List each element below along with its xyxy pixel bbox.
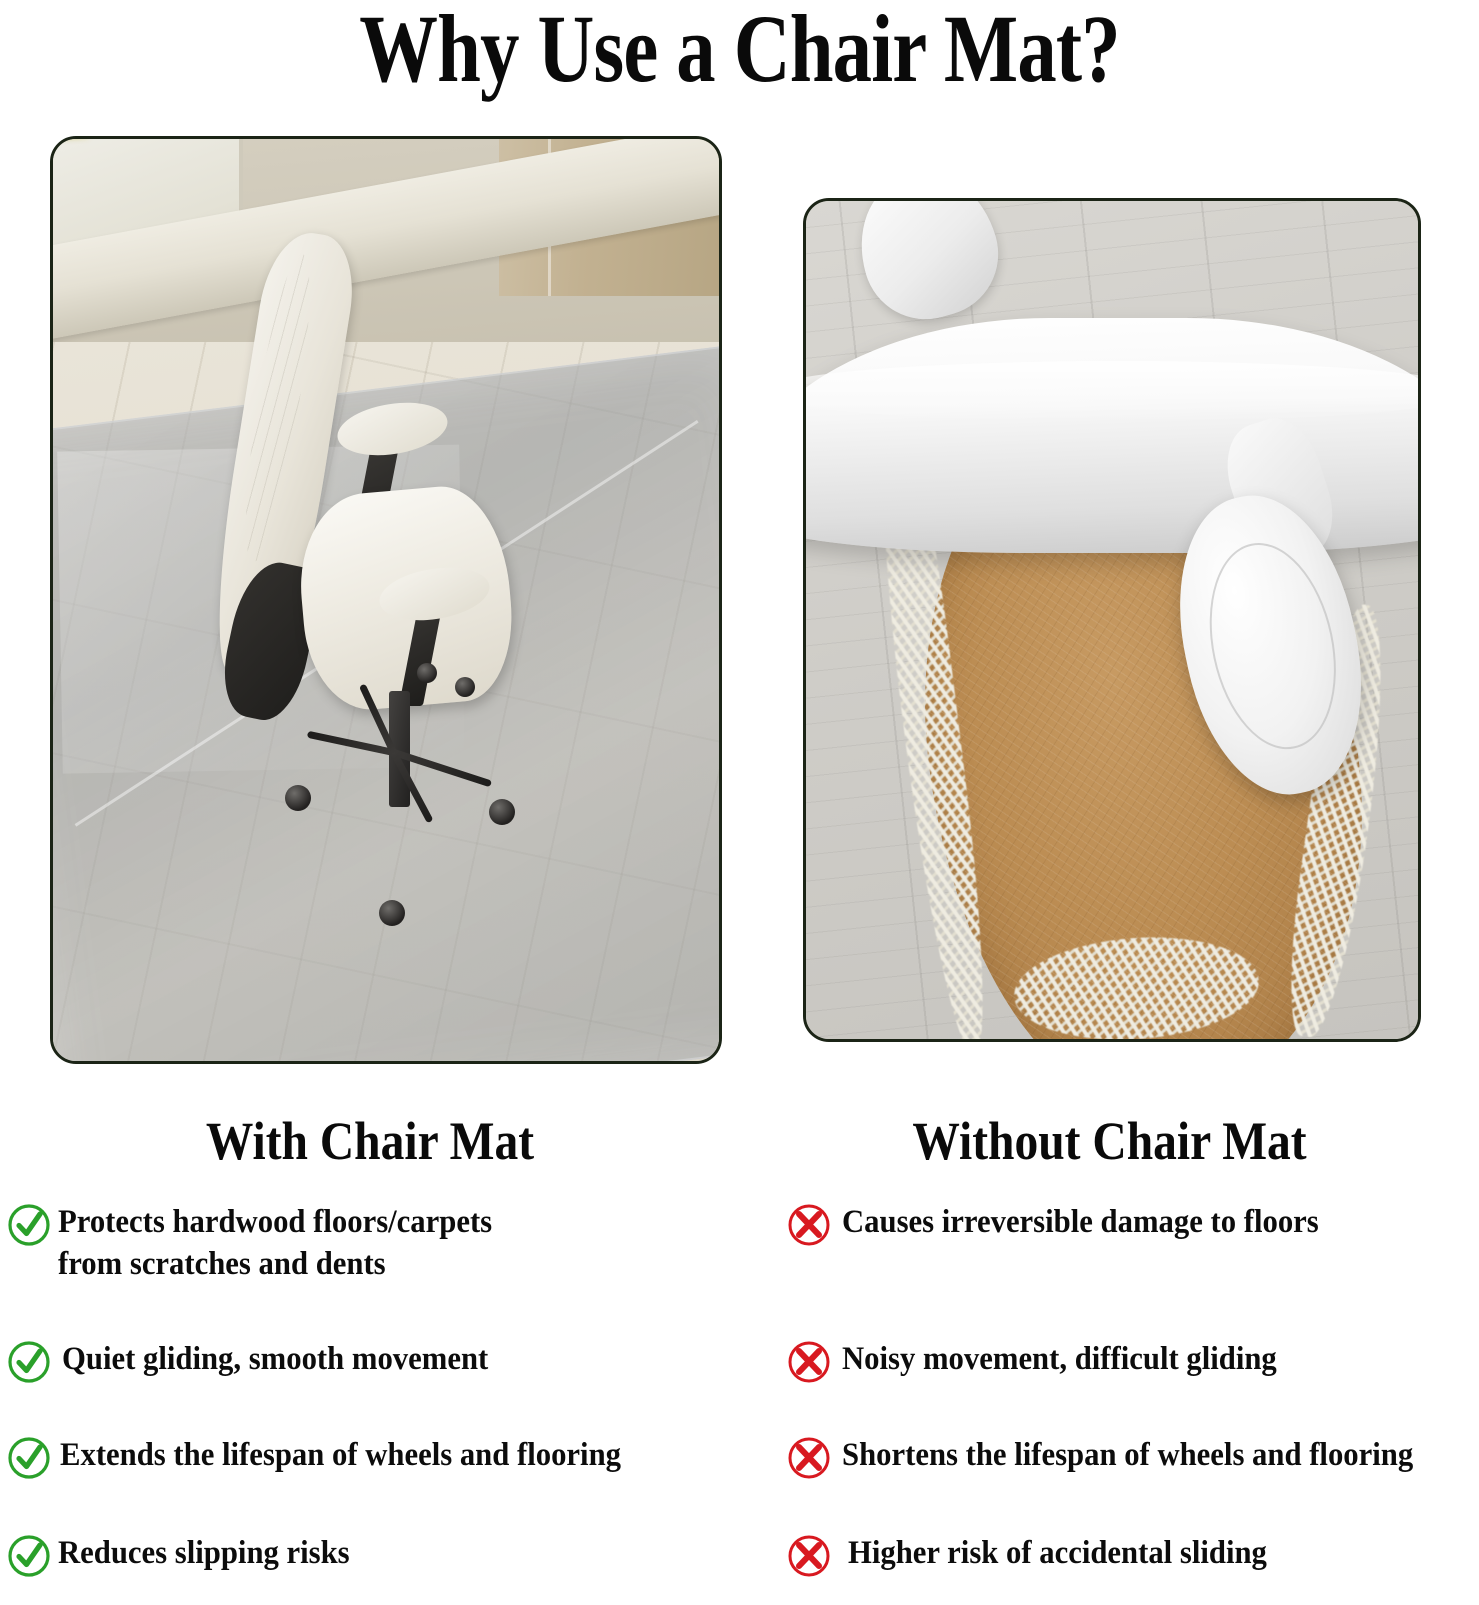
list-item: Quiet gliding, smooth movement [6, 1337, 751, 1401]
list-item: Extends the lifespan of wheels and floor… [6, 1433, 751, 1497]
list-item: Protects hardwood floors/carpets from sc… [6, 1200, 751, 1325]
green-check-circle-icon [6, 1339, 52, 1385]
photo-with-chair-mat-content [53, 139, 719, 1061]
drawbacks-list: Causes irreversible damage to floors Noi… [786, 1200, 1479, 1605]
red-x-circle-icon [786, 1533, 832, 1579]
office-chair [226, 231, 572, 950]
photo-without-chair-mat [803, 198, 1421, 1042]
list-item: Reduces slipping risks [6, 1531, 751, 1595]
list-item-label: Causes irreversible damage to floors [842, 1200, 1319, 1243]
list-item-label: Noisy movement, difficult gliding [842, 1337, 1277, 1380]
green-check-circle-icon [6, 1435, 52, 1481]
red-x-circle-icon [786, 1202, 832, 1248]
list-item: Causes irreversible damage to floors [786, 1200, 1479, 1325]
chair-caster [285, 785, 311, 811]
chair-caster [489, 799, 515, 825]
benefits-list: Protects hardwood floors/carpets from sc… [6, 1200, 751, 1605]
chair-caster [455, 677, 475, 697]
chair-caster [379, 900, 405, 926]
photo-with-chair-mat [50, 136, 722, 1064]
red-x-circle-icon [786, 1435, 832, 1481]
chair-armrest-far [334, 395, 451, 462]
list-item: Higher risk of accidental sliding [786, 1531, 1479, 1595]
list-item-label: Reduces slipping risks [58, 1531, 350, 1574]
heading-with-chair-mat: With Chair Mat [44, 1110, 695, 1172]
heading-without-chair-mat: Without Chair Mat [784, 1110, 1434, 1172]
red-x-circle-icon [786, 1339, 832, 1385]
green-check-circle-icon [6, 1202, 52, 1248]
list-item-label: Quiet gliding, smooth movement [62, 1337, 488, 1380]
chair-caster [417, 663, 437, 683]
list-item-label: Extends the lifespan of wheels and floor… [60, 1433, 621, 1476]
list-item-label: Protects hardwood floors/carpets from sc… [58, 1200, 492, 1285]
page-title: Why Use a Chair Mat? [133, 0, 1346, 104]
list-item: Shortens the lifespan of wheels and floo… [786, 1433, 1479, 1497]
green-check-circle-icon [6, 1533, 52, 1579]
list-item: Noisy movement, difficult gliding [786, 1337, 1479, 1401]
list-item-label: Higher risk of accidental sliding [848, 1531, 1267, 1574]
photo-without-chair-mat-content [806, 201, 1418, 1039]
list-item-label: Shortens the lifespan of wheels and floo… [842, 1433, 1413, 1476]
